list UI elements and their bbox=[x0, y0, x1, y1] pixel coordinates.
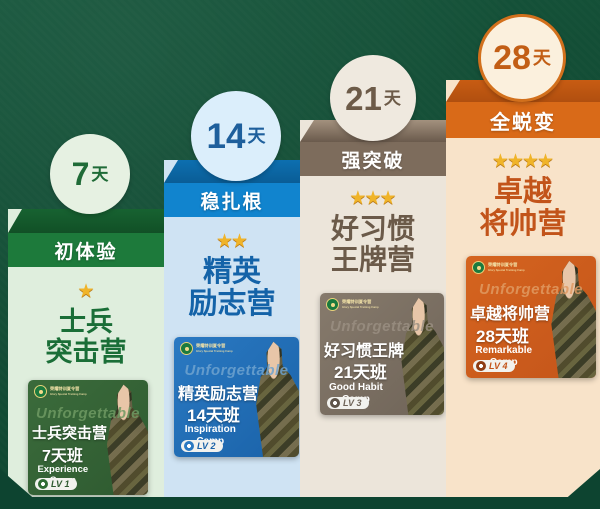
card-cn-line2: 14天班 bbox=[187, 401, 240, 426]
brand-logo: 荣耀特训夏令营 Glory Special Training Camp bbox=[180, 342, 233, 355]
course-card[interactable]: 荣耀特训夏令营 Glory Special Training Camp Unfo… bbox=[28, 380, 148, 495]
badge-number: 21 bbox=[345, 82, 382, 115]
logo-text-cn: 荣耀特训夏令营 bbox=[50, 386, 79, 391]
level-label: LV 3 bbox=[343, 398, 362, 408]
logo-text-en: Glory Special Training Camp bbox=[196, 350, 233, 353]
column-goodhabit[interactable]: 强突破 ★★★ 好习惯 王牌营 荣耀特训夏令营 Glory Special Tr… bbox=[300, 120, 446, 497]
cap-band: 全蜕变 bbox=[446, 102, 600, 138]
star-rating: ★★★★ bbox=[446, 152, 600, 171]
course-card[interactable]: 荣耀特训夏令营 Glory Special Training Camp Unfo… bbox=[320, 293, 444, 415]
card-cn-line2: 7天班 bbox=[42, 442, 83, 466]
card-cn-line2: 21天班 bbox=[334, 358, 387, 383]
cap-band: 稳扎根 bbox=[164, 183, 300, 217]
logo-text-cn: 荣耀特训夏令营 bbox=[488, 262, 517, 267]
logo-text-cn: 荣耀特训夏令营 bbox=[342, 299, 371, 304]
card-en-line1: Experience bbox=[37, 464, 88, 475]
logo-text: 荣耀特训夏令营 Glory Special Training Camp bbox=[196, 343, 233, 354]
star-icon: ★ bbox=[77, 282, 94, 301]
gear-icon bbox=[38, 479, 48, 489]
level-label: LV 4 bbox=[489, 361, 508, 371]
logo-mark bbox=[180, 342, 193, 355]
badge-unit: 天 bbox=[384, 90, 401, 107]
logo-mark bbox=[34, 385, 47, 398]
card-cn-line1: 卓越将帅营 bbox=[470, 300, 550, 324]
cap-label: 初体验 bbox=[54, 237, 117, 264]
column-inspiration[interactable]: 稳扎根 ★★ 精英 励志营 荣耀特训夏令营 Glory Special Trai… bbox=[164, 160, 300, 497]
badge-7-days: 7 天 bbox=[50, 134, 130, 214]
card-watermark: Unforgettable bbox=[174, 362, 299, 379]
brand-logo: 荣耀特训夏令营 Glory Special Training Camp bbox=[34, 385, 87, 398]
brand-logo: 荣耀特训夏令营 Glory Special Training Camp bbox=[472, 261, 525, 274]
logo-text-cn: 荣耀特训夏令营 bbox=[196, 343, 225, 348]
logo-text-en: Glory Special Training Camp bbox=[50, 393, 87, 396]
column-title: 好习惯 王牌营 bbox=[300, 213, 446, 276]
level-badge: LV 3 bbox=[327, 397, 369, 409]
card-watermark: Unforgettable bbox=[320, 318, 444, 335]
level-badge: LV 2 bbox=[181, 440, 223, 452]
logo-text: 荣耀特训夏令营 Glory Special Training Camp bbox=[50, 386, 87, 397]
card-en-line1: Remarkable bbox=[475, 345, 532, 356]
star-icon: ★ bbox=[537, 152, 554, 171]
badge-unit: 天 bbox=[91, 166, 108, 183]
card-en-line1: Inspiration bbox=[185, 424, 236, 435]
brand-logo: 荣耀特训夏令营 Glory Special Training Camp bbox=[326, 298, 379, 311]
stage-floor bbox=[0, 497, 600, 509]
gear-icon bbox=[476, 361, 486, 371]
star-rating: ★★ bbox=[164, 232, 300, 251]
logo-text: 荣耀特训夏令营 Glory Special Training Camp bbox=[342, 299, 379, 310]
logo-text-en: Glory Special Training Camp bbox=[488, 269, 525, 272]
star-rating: ★★★ bbox=[300, 189, 446, 208]
badge-number: 14 bbox=[207, 119, 246, 154]
badge-number: 28 bbox=[493, 41, 531, 75]
card-watermark: Unforgettable bbox=[466, 281, 596, 298]
cap-label: 强突破 bbox=[341, 146, 404, 173]
gear-icon bbox=[184, 441, 194, 451]
card-watermark: Unforgettable bbox=[28, 405, 148, 422]
cap-label: 全蜕变 bbox=[490, 106, 556, 135]
cap-band: 初体验 bbox=[8, 233, 164, 267]
column-title: 士兵 突击营 bbox=[8, 307, 164, 367]
card-cn-line2: 28天班 bbox=[476, 322, 529, 347]
logo-text-en: Glory Special Training Camp bbox=[342, 306, 379, 309]
course-card[interactable]: 荣耀特训夏令营 Glory Special Training Camp Unfo… bbox=[466, 256, 596, 378]
star-icon: ★ bbox=[380, 189, 397, 208]
badge-28-days: 28 天 bbox=[478, 14, 566, 102]
badge-14-days: 14 天 bbox=[191, 91, 281, 181]
cap-band: 强突破 bbox=[300, 142, 446, 176]
badge-unit: 天 bbox=[247, 127, 265, 145]
column-experience[interactable]: 初体验 ★ 士兵 突击营 荣耀特训夏令营 Glory Special Train… bbox=[8, 209, 164, 497]
star-rating: ★ bbox=[8, 282, 164, 301]
gear-icon bbox=[330, 398, 340, 408]
cap-label: 稳扎根 bbox=[200, 187, 263, 214]
level-label: LV 1 bbox=[51, 479, 70, 489]
level-badge: LV 1 bbox=[35, 478, 77, 490]
column-title: 精英 励志营 bbox=[164, 256, 300, 321]
course-card[interactable]: 荣耀特训夏令营 Glory Special Training Camp Unfo… bbox=[174, 337, 299, 457]
badge-number: 7 bbox=[72, 158, 90, 190]
column-remarkable[interactable]: 全蜕变 ★★★★ 卓越 将帅营 荣耀特训夏令营 Glory Special Tr… bbox=[446, 80, 600, 497]
logo-text: 荣耀特训夏令营 Glory Special Training Camp bbox=[488, 262, 525, 273]
logo-mark bbox=[472, 261, 485, 274]
level-label: LV 2 bbox=[197, 441, 216, 451]
star-icon: ★ bbox=[231, 232, 248, 251]
card-en-line1: Good Habit bbox=[329, 382, 383, 393]
infographic-stage: 初体验 ★ 士兵 突击营 荣耀特训夏令营 Glory Special Train… bbox=[0, 0, 600, 509]
level-badge: LV 4 bbox=[473, 360, 515, 372]
column-title: 卓越 将帅营 bbox=[446, 176, 600, 241]
badge-21-days: 21 天 bbox=[330, 55, 416, 141]
card-cn-line1: 士兵突击营 bbox=[32, 422, 107, 443]
badge-unit: 天 bbox=[533, 49, 551, 67]
logo-mark bbox=[326, 298, 339, 311]
